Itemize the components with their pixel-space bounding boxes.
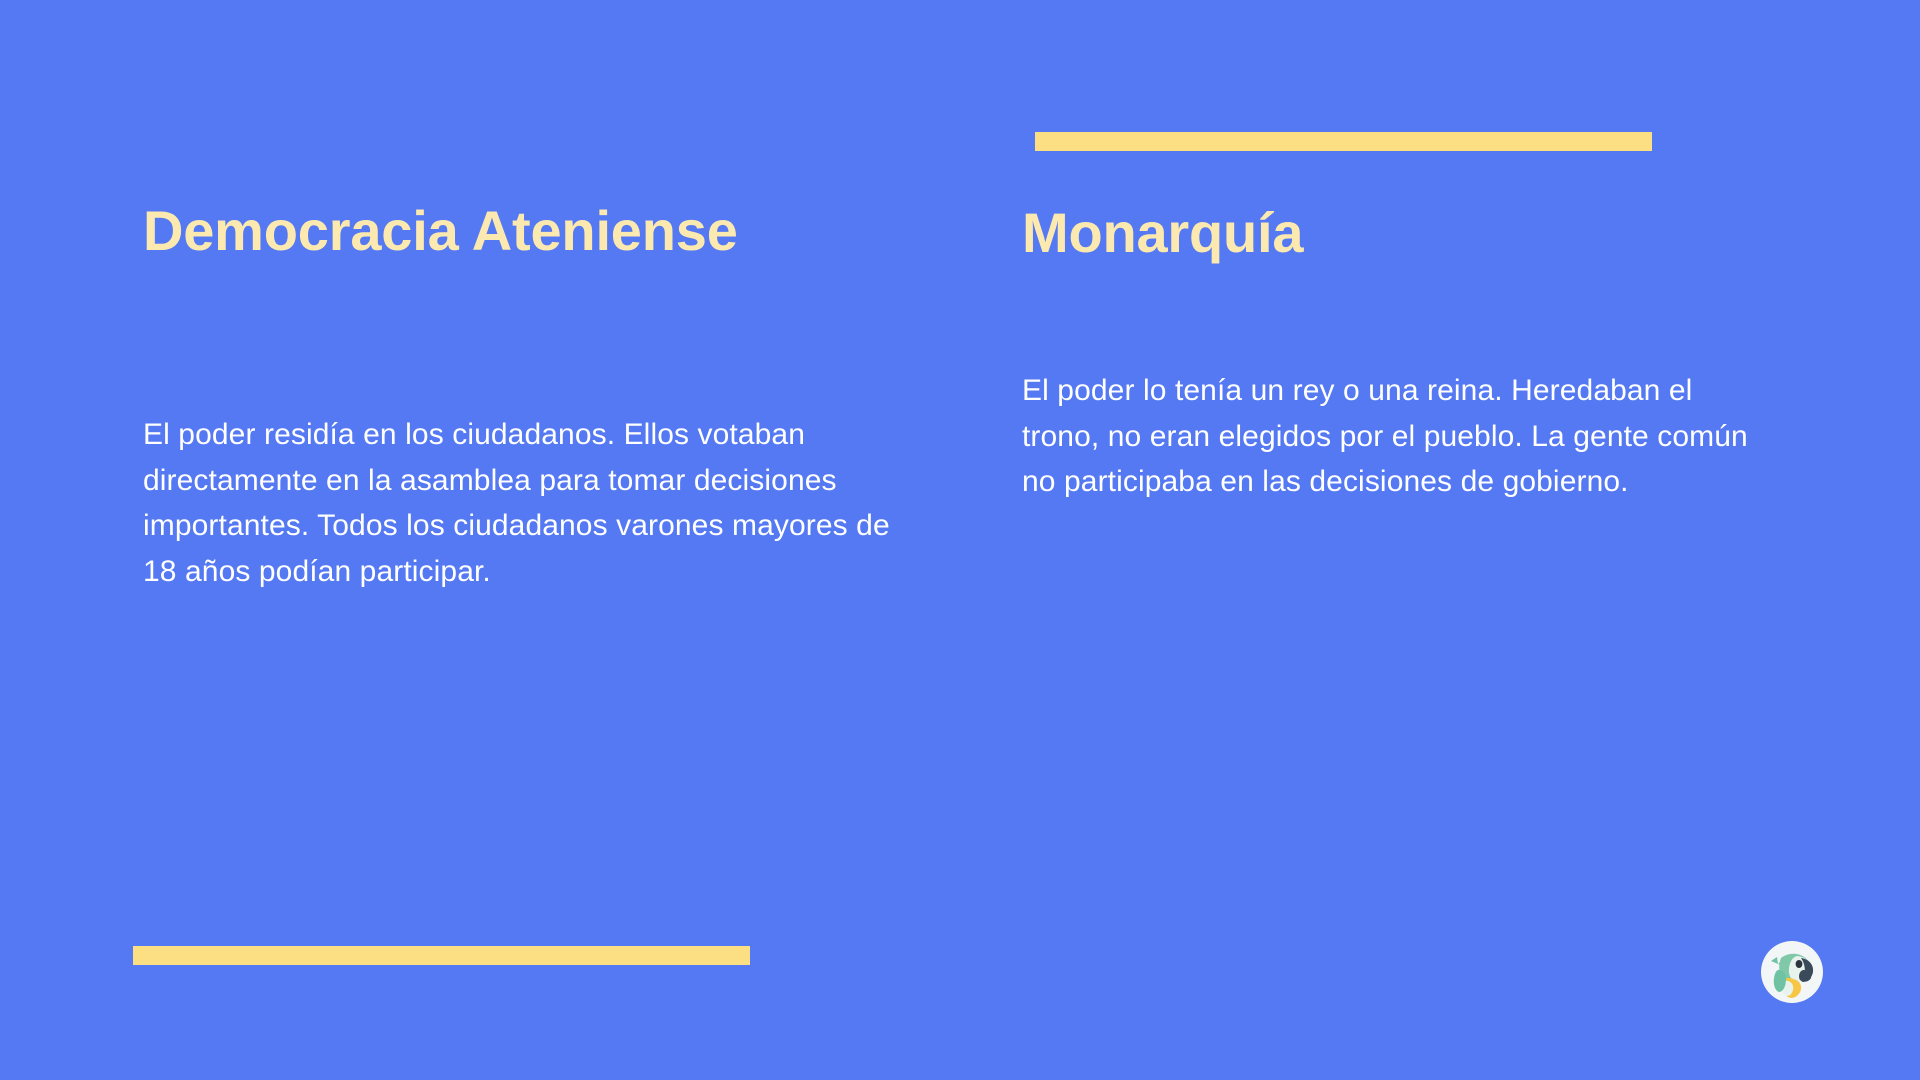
body-democracia: El poder residía en los ciudadanos. Ello… [143, 412, 903, 594]
heading-democracia: Democracia Ateniense [143, 200, 738, 262]
parrot-logo [1757, 937, 1827, 1007]
column-monarquia: Monarquía El poder lo tenía un rey o una… [1022, 0, 1782, 1080]
heading-monarquia: Monarquía [1022, 202, 1303, 264]
accent-rule-bottom-left [133, 946, 750, 965]
slide-canvas: Democracia Ateniense El poder residía en… [0, 0, 1920, 1080]
body-monarquia: El poder lo tenía un rey o una reina. He… [1022, 368, 1767, 505]
column-democracia: Democracia Ateniense El poder residía en… [143, 0, 903, 1080]
